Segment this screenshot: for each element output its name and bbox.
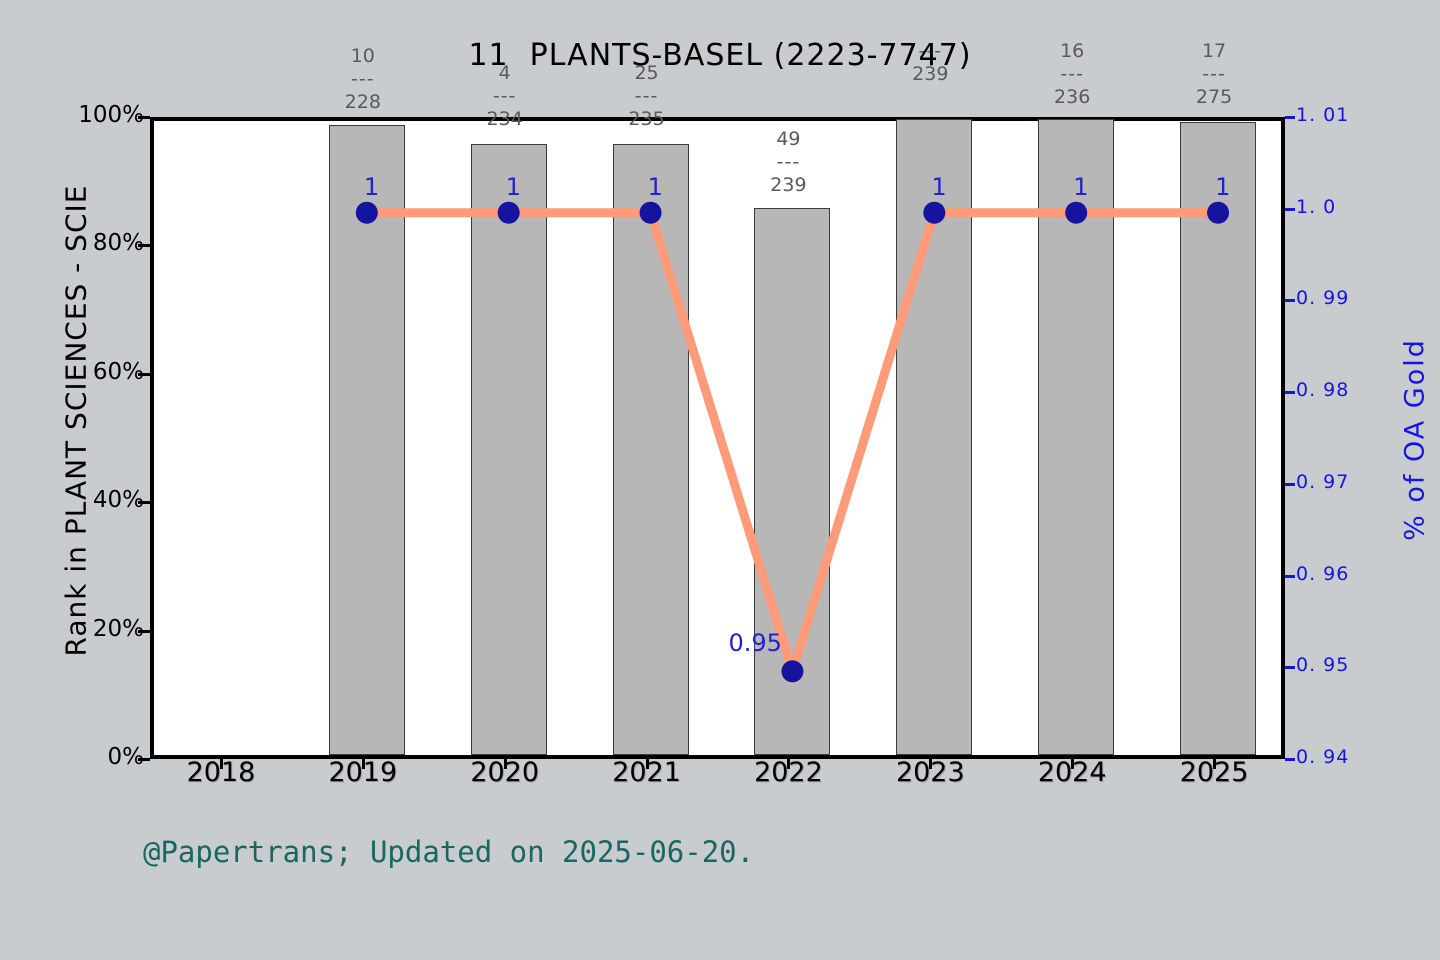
x-tick-label-2020: 2020 <box>430 757 580 788</box>
point-label-2022: 0.95 <box>728 629 781 657</box>
point-label-2023: 1 <box>931 173 946 201</box>
bar-2023 <box>896 119 972 755</box>
point-label-2020: 1 <box>506 173 521 201</box>
y-tick-label-right-0-97: 0. 97 <box>1296 471 1349 493</box>
fraction-denominator-2022: 239 <box>733 174 843 197</box>
bar-2022 <box>754 208 830 755</box>
y-tick-label-right-0-95: 0. 95 <box>1296 654 1349 676</box>
point-label-2024: 1 <box>1073 173 1088 201</box>
x-tick-label-2024: 2024 <box>997 757 1147 788</box>
plot-area <box>150 117 1285 759</box>
y-tick-label-left-100: 100% <box>78 102 144 128</box>
y-tick-label-right-1-01: 1. 01 <box>1296 104 1349 126</box>
fraction-denominator-2019: 228 <box>308 91 418 114</box>
fraction-denominator-2025: 275 <box>1159 86 1269 109</box>
y-tick-label-right-1: 1. 0 <box>1296 196 1336 218</box>
y-tick-label-right-0-96: 0. 96 <box>1296 563 1349 585</box>
point-label-2019: 1 <box>364 173 379 201</box>
y-tick-label-right-0-94: 0. 94 <box>1296 746 1349 768</box>
y-tick-label-left-80: 80% <box>93 230 144 256</box>
y-tick-label-left-0: 0% <box>108 744 145 770</box>
chart-canvas: 11 PLANTS-BASEL (2223-7747) Rank in PLAN… <box>0 0 1440 960</box>
x-tick-label-2023: 2023 <box>855 757 1005 788</box>
plot-inner <box>154 121 1281 755</box>
y-tick-label-left-20: 20% <box>93 616 144 642</box>
x-tick-label-2019: 2019 <box>288 757 438 788</box>
bar-fraction-2022: 49---239 <box>733 128 843 197</box>
fraction-rule-2022: --- <box>733 151 843 174</box>
x-tick-label-2022: 2022 <box>713 757 863 788</box>
bar-2019 <box>329 125 405 755</box>
y-tick-mark-right-1 <box>1285 208 1295 211</box>
fraction-denominator-2024: 236 <box>1017 86 1127 109</box>
y-tick-mark-right-1-01 <box>1285 116 1295 119</box>
y-axis-title-left: Rank in PLANT SCIENCES - SCIE <box>60 71 93 771</box>
y-tick-mark-right-0-99 <box>1285 299 1295 302</box>
y-tick-label-right-0-99: 0. 99 <box>1296 287 1349 309</box>
y-tick-mark-right-0-96 <box>1285 575 1295 578</box>
y-tick-label-right-0-98: 0. 98 <box>1296 379 1349 401</box>
x-tick-label-2025: 2025 <box>1139 757 1289 788</box>
x-tick-label-2018: 2018 <box>146 757 296 788</box>
y-tick-mark-right-0-98 <box>1285 391 1295 394</box>
chart-title: 11 PLANTS-BASEL (2223-7747) <box>0 38 1440 73</box>
footer-note: @Papertrans; Updated on 2025-06-20. <box>143 835 754 869</box>
fraction-denominator-2021: 235 <box>592 108 702 131</box>
fraction-denominator-2020: 234 <box>450 108 560 131</box>
bar-2024 <box>1038 119 1114 755</box>
y-tick-label-left-60: 60% <box>93 359 144 385</box>
x-tick-label-2021: 2021 <box>572 757 722 788</box>
y-tick-mark-right-0-95 <box>1285 666 1295 669</box>
fraction-rule-2021: --- <box>592 85 702 108</box>
y-axis-title-right: % of OA Gold <box>1400 160 1431 720</box>
point-label-2021: 1 <box>648 173 663 201</box>
bar-2025 <box>1180 122 1256 755</box>
point-label-2025: 1 <box>1215 173 1230 201</box>
y-tick-label-left-40: 40% <box>93 487 144 513</box>
line-series-layer <box>154 121 1289 763</box>
fraction-numerator-2022: 49 <box>733 128 843 151</box>
bar-2021 <box>613 144 689 755</box>
y-tick-mark-right-0-97 <box>1285 483 1295 486</box>
fraction-rule-2020: --- <box>450 85 560 108</box>
bar-2020 <box>471 144 547 755</box>
